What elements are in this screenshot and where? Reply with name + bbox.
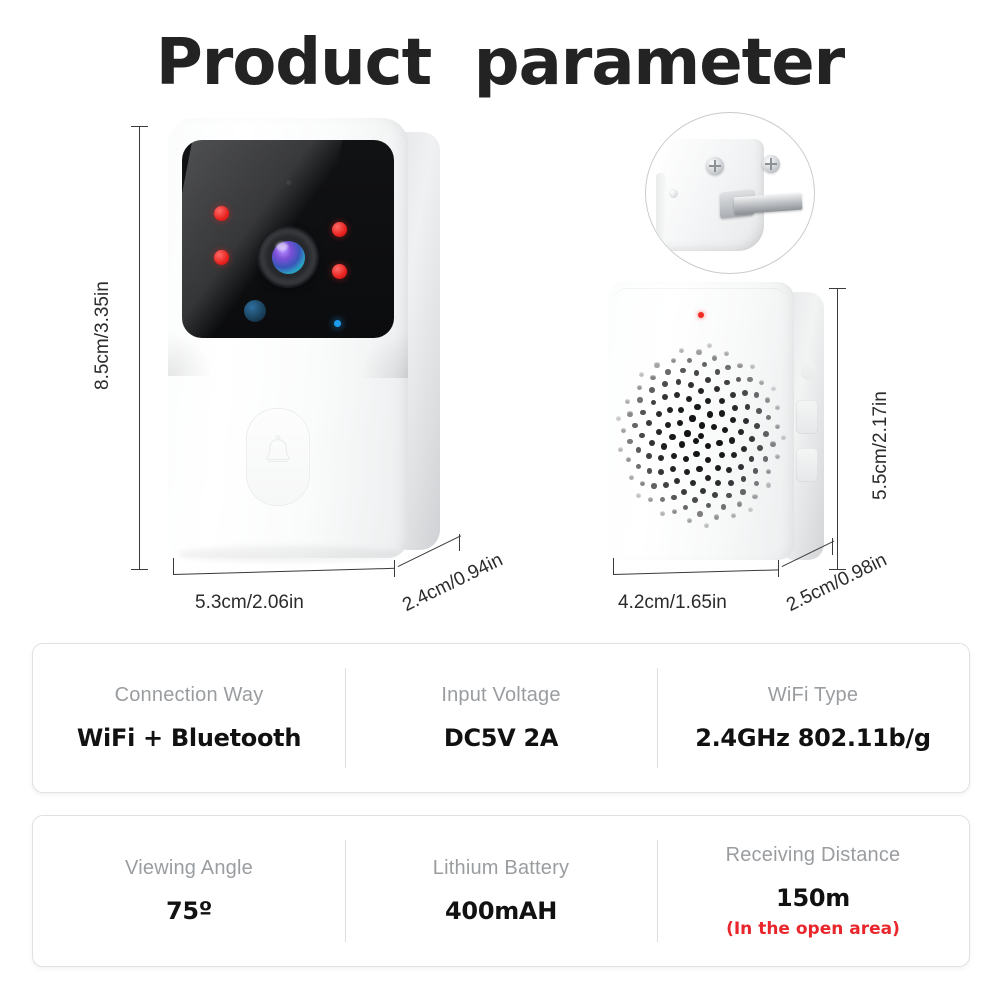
- status-led-icon: [698, 312, 704, 318]
- dim-cap-left: [173, 558, 174, 575]
- spec-label: Lithium Battery: [433, 857, 569, 880]
- ir-led-icon: [332, 264, 347, 279]
- ac-plug-prongs-icon: [733, 193, 802, 215]
- spec-cell-viewing-angle: Viewing Angle 75º: [33, 816, 345, 966]
- plug-edge-dot: [669, 189, 678, 198]
- spec-value: 150m: [776, 884, 850, 912]
- plug-detail-inset: [645, 112, 815, 274]
- spec-label: WiFi Type: [768, 684, 858, 707]
- doorbell-push-button[interactable]: [246, 408, 310, 506]
- chime-side-nub: [801, 360, 815, 380]
- dim-cap-right: [394, 560, 395, 577]
- doorbell-faceplate: [182, 140, 394, 338]
- ir-led-icon: [332, 222, 347, 237]
- spec-card-row-1: Connection Way WiFi + Bluetooth Input Vo…: [32, 643, 970, 793]
- doorbell-camera-image: [168, 118, 440, 570]
- ir-led-icon: [214, 206, 229, 221]
- spec-value: 400mAH: [445, 897, 557, 925]
- pir-sensor-icon: [244, 300, 266, 322]
- spec-label: Receiving Distance: [726, 844, 901, 867]
- plug-left-edge: [656, 173, 666, 245]
- spec-label: Connection Way: [115, 684, 264, 707]
- dim-cap-bottom: [131, 569, 148, 570]
- chime-width-dimension-line: [613, 569, 779, 575]
- spec-card-row-2: Viewing Angle 75º Lithium Battery 400mAH…: [32, 815, 970, 967]
- spec-value: WiFi + Bluetooth: [77, 724, 301, 752]
- spec-cell-wifi-type: WiFi Type 2.4GHz 802.11b/g: [657, 644, 969, 792]
- spec-cell-receiving-distance: Receiving Distance 150m (In the open are…: [657, 816, 969, 966]
- dim-cap-depth: [459, 534, 460, 551]
- spec-cell-lithium-battery: Lithium Battery 400mAH: [345, 816, 657, 966]
- doorbell-contact-shadow: [178, 546, 398, 562]
- speaker-grille-icon: [616, 336, 786, 536]
- microphone-icon: [286, 180, 291, 185]
- spec-cell-input-voltage: Input Voltage DC5V 2A: [345, 644, 657, 792]
- chime-image: [608, 282, 824, 570]
- doorbell-shoulder-left: [168, 332, 212, 376]
- doorbell-width-label: 5.3cm/2.06in: [195, 592, 304, 614]
- chime-side-button[interactable]: [796, 400, 818, 434]
- chime-width-label: 4.2cm/1.65in: [618, 592, 727, 614]
- dim-cap-depth: [832, 538, 833, 555]
- doorbell-shoulder-right: [360, 332, 408, 378]
- chime-body: [608, 282, 794, 560]
- status-led-icon: [334, 320, 341, 327]
- dim-cap-right: [778, 560, 779, 577]
- spec-value: 2.4GHz 802.11b/g: [695, 724, 931, 752]
- camera-lens-icon: [259, 228, 317, 286]
- doorbell-height-label: 8.5cm/3.35in: [92, 281, 114, 390]
- spec-value: 75º: [166, 897, 212, 925]
- dim-cap-left: [613, 558, 614, 575]
- chime-height-label: 5.5cm/2.17in: [870, 391, 892, 500]
- spec-note: (In the open area): [726, 919, 900, 939]
- chime-height-dimension-line: [837, 288, 838, 570]
- doorbell-body: [168, 118, 408, 558]
- page-title: Product parameter: [0, 26, 1000, 100]
- screw-icon: [706, 157, 724, 175]
- chime-side-button[interactable]: [796, 448, 818, 482]
- spec-label: Viewing Angle: [125, 857, 253, 880]
- spec-label: Input Voltage: [441, 684, 560, 707]
- doorbell-height-dimension-line: [139, 126, 140, 570]
- spec-cell-connection-way: Connection Way WiFi + Bluetooth: [33, 644, 345, 792]
- screw-icon: [762, 155, 780, 173]
- spec-value: DC5V 2A: [444, 724, 558, 752]
- ir-led-icon: [214, 250, 229, 265]
- doorbell-bell-icon: [261, 435, 295, 471]
